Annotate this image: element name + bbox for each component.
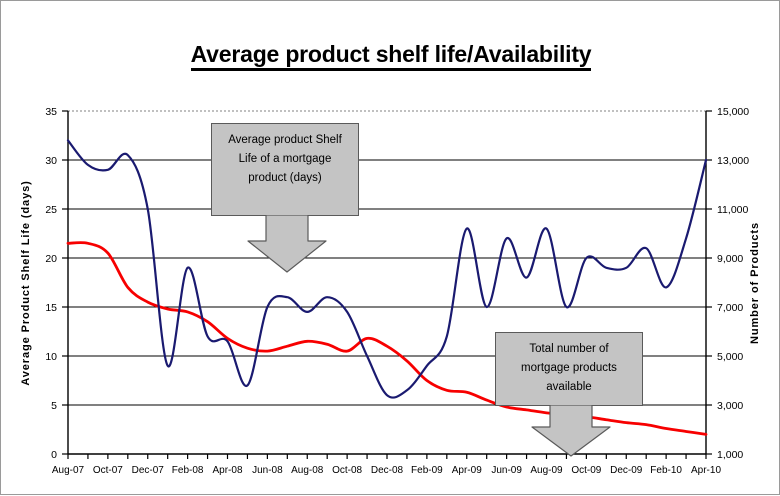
- right-tick-label: 13,000: [717, 155, 749, 167]
- left-tick-label: 35: [45, 106, 57, 118]
- right-tick-label: 3,000: [717, 400, 743, 412]
- x-tick-label: Jun-08: [252, 465, 283, 476]
- callout-total-products-arrow-icon: [531, 405, 611, 457]
- callout-total-products-text: Total number of mortgage products availa…: [513, 333, 625, 397]
- right-tick-label: 11,000: [717, 204, 748, 216]
- x-tick-label: Dec-09: [610, 465, 643, 476]
- x-tick-label: Dec-07: [132, 465, 165, 476]
- x-tick-label: Oct-08: [332, 465, 362, 476]
- callout-shelf-life: Average product Shelf Life of a mortgage…: [211, 123, 359, 273]
- callout-shelf-life-arrow-icon: [247, 215, 327, 273]
- right-tick-label: 1,000: [717, 449, 743, 461]
- right-tick-label: 9,000: [717, 253, 743, 265]
- left-tick-label: 0: [51, 449, 57, 461]
- left-axis-tick-labels: 05101520253035: [45, 106, 57, 461]
- callout-total-products-box: Total number of mortgage products availa…: [495, 332, 643, 406]
- x-tick-label: Feb-10: [650, 465, 682, 476]
- x-axis-tick-labels: Aug-07Oct-07Dec-07Feb-08Apr-08Jun-08Aug-…: [52, 465, 722, 476]
- callout-shelf-life-line1: Average product Shelf: [228, 131, 342, 150]
- left-tick-label: 5: [51, 400, 57, 412]
- callout-shelf-life-line3: product (days): [228, 169, 342, 188]
- x-tick-label: Aug-07: [52, 465, 85, 476]
- x-tick-label: Oct-09: [571, 465, 601, 476]
- right-tick-label: 7,000: [717, 302, 743, 314]
- left-tick-label: 20: [45, 253, 57, 265]
- right-axis-ticks: [706, 111, 712, 454]
- callout-shelf-life-text: Average product Shelf Life of a mortgage…: [220, 124, 350, 188]
- x-tick-label: Aug-08: [291, 465, 324, 476]
- right-axis-title: Number of Products: [749, 222, 761, 344]
- x-tick-label: Feb-09: [411, 465, 443, 476]
- callout-shelf-life-box: Average product Shelf Life of a mortgage…: [211, 123, 359, 216]
- left-tick-label: 15: [45, 302, 57, 314]
- right-tick-label: 5,000: [717, 351, 743, 363]
- callout-total-products-line2: mortgage products: [521, 359, 617, 378]
- left-tick-label: 25: [45, 204, 57, 216]
- x-tick-label: Apr-08: [212, 465, 242, 476]
- x-tick-label: Dec-08: [371, 465, 404, 476]
- left-tick-label: 30: [45, 155, 57, 167]
- callout-shelf-life-line2: Life of a mortgage: [228, 150, 342, 169]
- left-axis-ticks: [62, 111, 68, 454]
- left-axis-title: Average Product Shelf Life (days): [20, 180, 32, 385]
- chart-page: Average product shelf life/Availability: [0, 0, 780, 495]
- x-tick-label: Feb-08: [172, 465, 204, 476]
- right-tick-label: 15,000: [717, 106, 749, 118]
- chart-svg: 05101520253035 1,0003,0005,0007,0009,000…: [1, 1, 780, 496]
- chart-plot-area: 05101520253035 1,0003,0005,0007,0009,000…: [1, 1, 780, 496]
- x-tick-label: Aug-09: [530, 465, 563, 476]
- callout-total-products: Total number of mortgage products availa…: [495, 332, 643, 456]
- callout-total-products-line3: available: [521, 378, 617, 397]
- callout-total-products-line1: Total number of: [521, 340, 617, 359]
- x-tick-label: Apr-10: [691, 465, 721, 476]
- right-axis-tick-labels: 1,0003,0005,0007,0009,00011,00013,00015,…: [717, 106, 749, 461]
- x-tick-label: Apr-09: [452, 465, 482, 476]
- x-tick-label: Jun-09: [491, 465, 522, 476]
- x-tick-label: Oct-07: [93, 465, 123, 476]
- left-tick-label: 10: [45, 351, 57, 363]
